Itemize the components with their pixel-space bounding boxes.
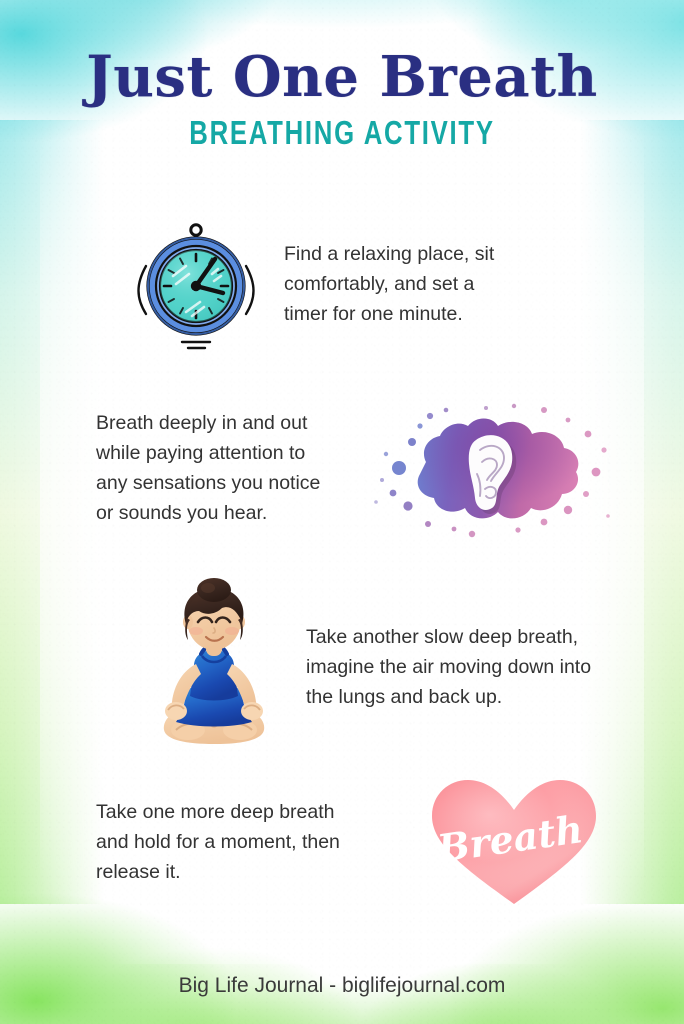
step-2: Breath deeply in and out while paying at… [96,398,624,538]
step-3: Take another slow deep breath, imagine t… [146,580,646,754]
poster-subtitle: BREATHING ACTIVITY [75,115,609,151]
footer-credit: Big Life Journal - biglifejournal.com [0,974,684,998]
step-1-text: Find a relaxing place, sit comfortably, … [284,239,532,329]
alarm-clock-icon [126,214,266,354]
step-2-text: Breath deeply in and out while paying at… [96,408,358,528]
breath-heart-icon: Breath [424,772,604,912]
step-1: Find a relaxing place, sit comfortably, … [126,214,546,354]
step-3-text: Take another slow deep breath, imagine t… [306,622,636,712]
infographic-poster: Just One Breath BREATHING ACTIVITY [0,0,684,1024]
meditating-girl-icon [146,580,282,754]
ear-splatter-icon [368,398,612,538]
step-4-text: Take one more deep breath and hold for a… [96,797,376,887]
poster-header: Just One Breath BREATHING ACTIVITY [0,48,684,151]
step-4: Take one more deep breath and hold for a… [96,772,624,912]
poster-title: Just One Breath [0,48,684,107]
watercolor-wash-left [0,120,104,904]
